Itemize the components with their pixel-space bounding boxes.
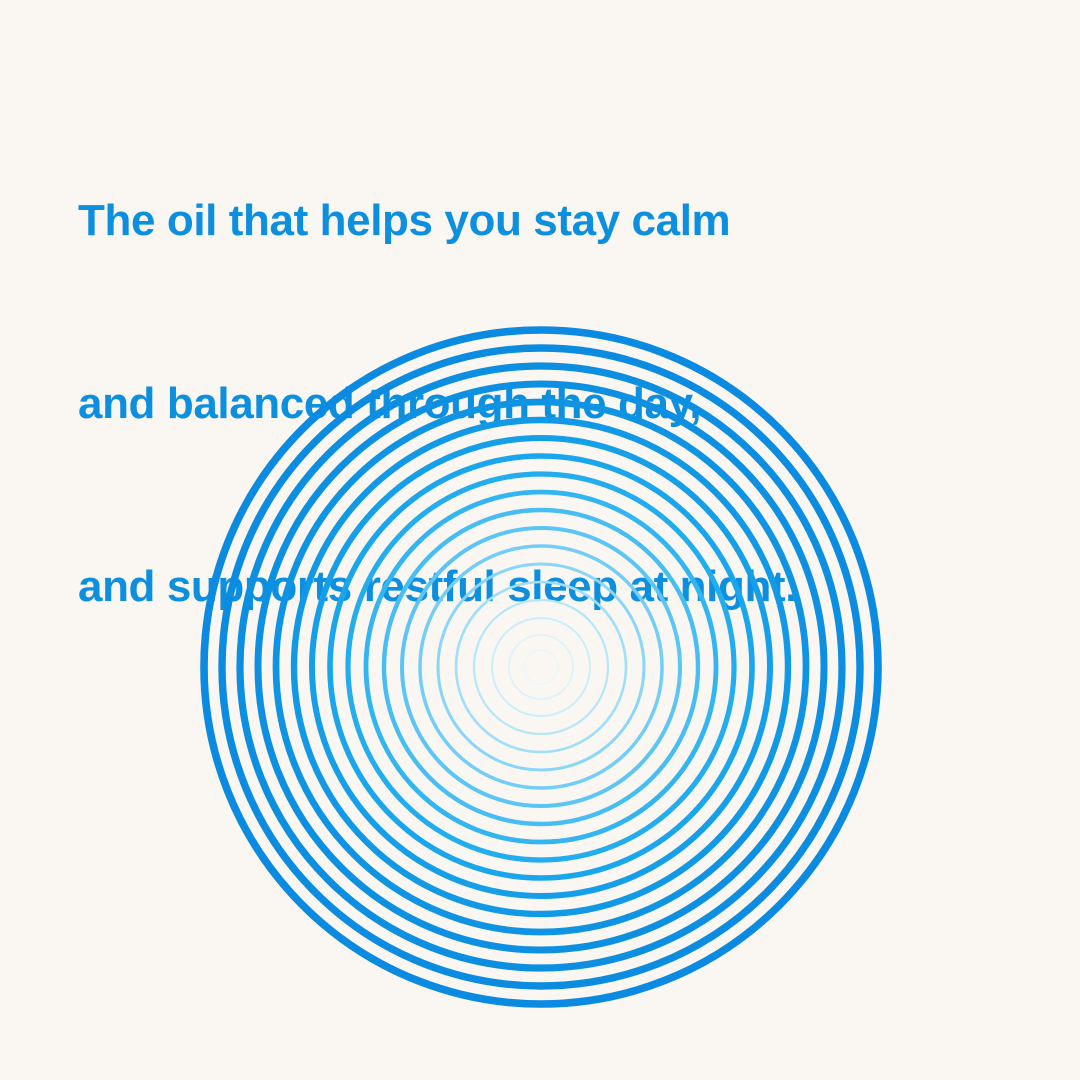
page-title: The oil that helps you stay calm and bal… bbox=[78, 68, 998, 739]
headline-line-3: and supports restful sleep at night. bbox=[78, 556, 998, 617]
poster-canvas: The oil that helps you stay calm and bal… bbox=[0, 0, 1080, 1080]
headline-line-2: and balanced through the day, bbox=[78, 373, 998, 434]
headline-line-1: The oil that helps you stay calm bbox=[78, 190, 998, 251]
